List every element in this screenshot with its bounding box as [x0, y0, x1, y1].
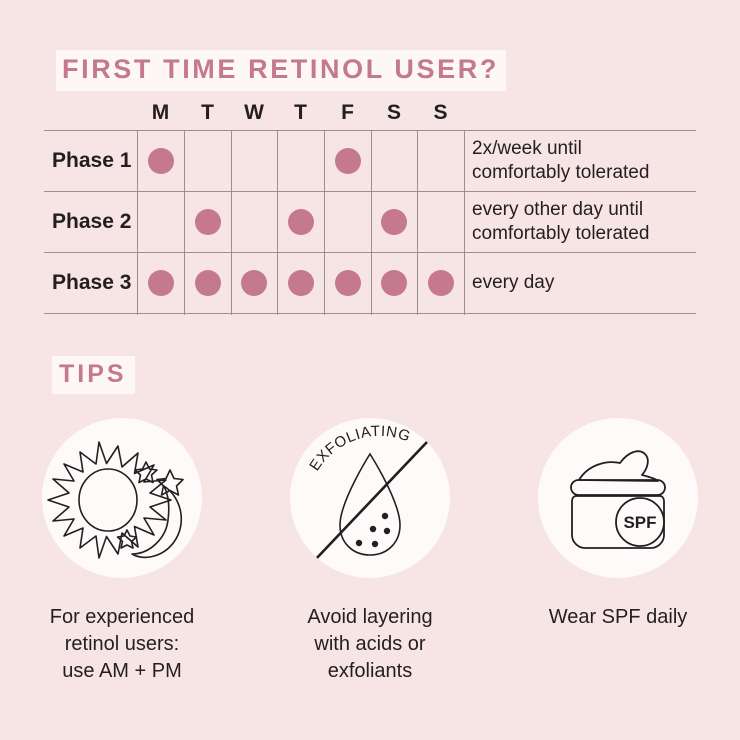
schedule-dot-p3-d6 [381, 270, 407, 296]
phase-description-1: 2x/week untilcomfortably tolerated [472, 137, 702, 185]
day-header-1: T [184, 100, 231, 126]
grid-vrule-1 [184, 130, 185, 315]
grid-vrule-4 [324, 130, 325, 315]
tip-caption: Wear SPF daily [549, 604, 688, 631]
schedule-dot-p1-d1 [148, 148, 174, 174]
day-header-2: W [231, 100, 278, 126]
day-header-3: T [277, 100, 324, 126]
grid-vrule-7 [464, 130, 465, 315]
tip-icon-circle [42, 418, 202, 578]
retinol-schedule-table: MTWTFSS Phase 12x/week untilcomfortably … [44, 100, 696, 315]
grid-vrule-0 [137, 130, 138, 315]
phase-label-1: Phase 1 [52, 131, 131, 191]
spf-cream-jar-icon: SPF [538, 418, 698, 578]
schedule-dot-p2-d4 [288, 209, 314, 235]
grid-hrule-3 [44, 313, 696, 314]
tip-icon-circle: EXFOLIATING [290, 418, 450, 578]
tip-caption: Avoid layering with acids or exfoliants [307, 604, 432, 685]
schedule-dot-p3-d7 [428, 270, 454, 296]
schedule-dot-p3-d5 [335, 270, 361, 296]
schedule-dot-p1-d5 [335, 148, 361, 174]
grid-vrule-3 [277, 130, 278, 315]
phase-label-2: Phase 2 [52, 192, 131, 252]
sun-moon-stars-icon [42, 418, 202, 578]
grid-vrule-2 [231, 130, 232, 315]
schedule-dot-p3-d4 [288, 270, 314, 296]
tips-row: For experienced retinol users: use AM + … [0, 418, 740, 685]
exfoliant-grains [356, 513, 390, 547]
schedule-dot-p3-d3 [241, 270, 267, 296]
page-title: FIRST TIME RETINOL USER? [56, 50, 506, 91]
day-header-0: M [137, 100, 184, 126]
schedule-dot-p3-d2 [195, 270, 221, 296]
grid-vrule-6 [417, 130, 418, 315]
spf-badge-label: SPF [623, 513, 656, 532]
phase-label-3: Phase 3 [52, 253, 131, 313]
day-header-6: S [417, 100, 464, 126]
tip-card-spf: SPF Wear SPF daily [525, 418, 711, 685]
phase-description-2: every other day untilcomfortably tolerat… [472, 198, 702, 246]
grid-hrule-2 [44, 252, 696, 253]
tip-card-am-pm: For experienced retinol users: use AM + … [29, 418, 215, 685]
tip-card-avoid-exfoliants: EXFOLIATING Avoid layering with aci [277, 418, 463, 685]
tips-heading-text: TIPS [52, 356, 135, 394]
exfoliating-label: EXFOLIATING [306, 423, 412, 474]
page-title-text: FIRST TIME RETINOL USER? [56, 50, 506, 91]
day-header-4: F [324, 100, 371, 126]
no-exfoliating-droplet-icon: EXFOLIATING [290, 418, 450, 578]
tip-caption: For experienced retinol users: use AM + … [50, 604, 195, 685]
schedule-dot-p2-d6 [381, 209, 407, 235]
tip-icon-circle: SPF [538, 418, 698, 578]
schedule-dot-p2-d2 [195, 209, 221, 235]
schedule-dot-p3-d1 [148, 270, 174, 296]
grid-hrule-0 [44, 130, 696, 131]
day-header-row: MTWTFSS [44, 100, 696, 130]
grid-hrule-1 [44, 191, 696, 192]
grid-vrule-5 [371, 130, 372, 315]
tips-heading: TIPS [52, 356, 135, 394]
schedule-grid: Phase 12x/week untilcomfortably tolerate… [44, 130, 696, 315]
day-header-5: S [371, 100, 418, 126]
phase-description-3: every day [472, 271, 702, 295]
